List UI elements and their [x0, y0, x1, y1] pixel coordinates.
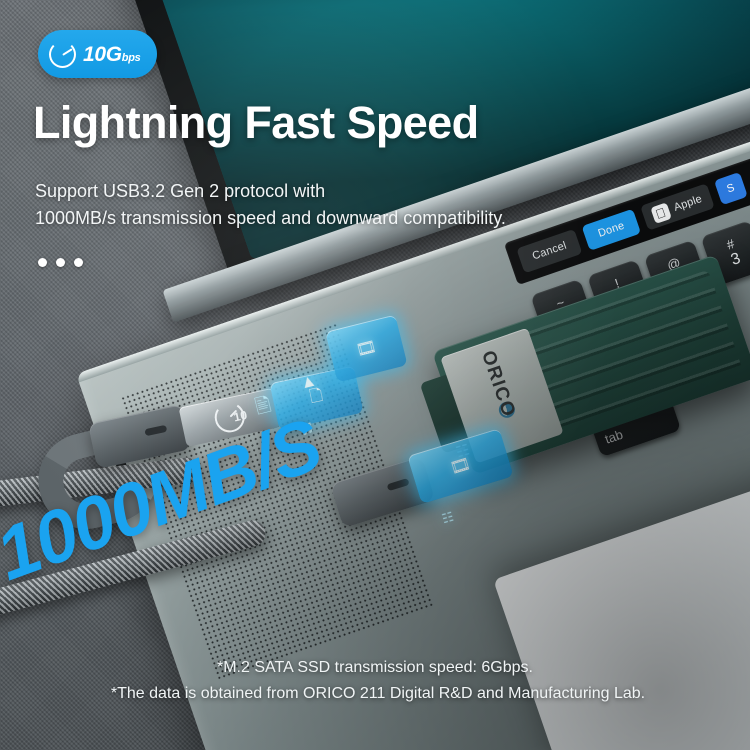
page-title: Lightning Fast Speed [33, 97, 479, 149]
speed-badge: 10Gbps [38, 30, 157, 78]
footnotes: *M.2 SATA SSD transmission speed: 6Gbps.… [0, 655, 750, 707]
dot-2 [56, 258, 65, 267]
footnote-2: *The data is obtained from ORICO 211 Dig… [0, 681, 750, 707]
footnote-1: *M.2 SATA SSD transmission speed: 6Gbps. [0, 655, 750, 681]
decorative-dots [38, 258, 83, 267]
dot-1 [38, 258, 47, 267]
subtitle-line-1: Support USB3.2 Gen 2 protocol with [35, 178, 506, 205]
speedometer-icon [49, 41, 76, 68]
badge-unit: bps [122, 52, 141, 64]
dot-3 [74, 258, 83, 267]
subtitle-line-2: 1000MB/s transmission speed and downward… [35, 205, 506, 232]
subtitle: Support USB3.2 Gen 2 protocol with 1000M… [35, 178, 506, 233]
product-banner: Cancel Done  Apple S ~ ` ! 1 @ 2 # [0, 0, 750, 750]
badge-label: 10Gbps [83, 44, 140, 65]
badge-speed-value: 10G [83, 43, 122, 66]
